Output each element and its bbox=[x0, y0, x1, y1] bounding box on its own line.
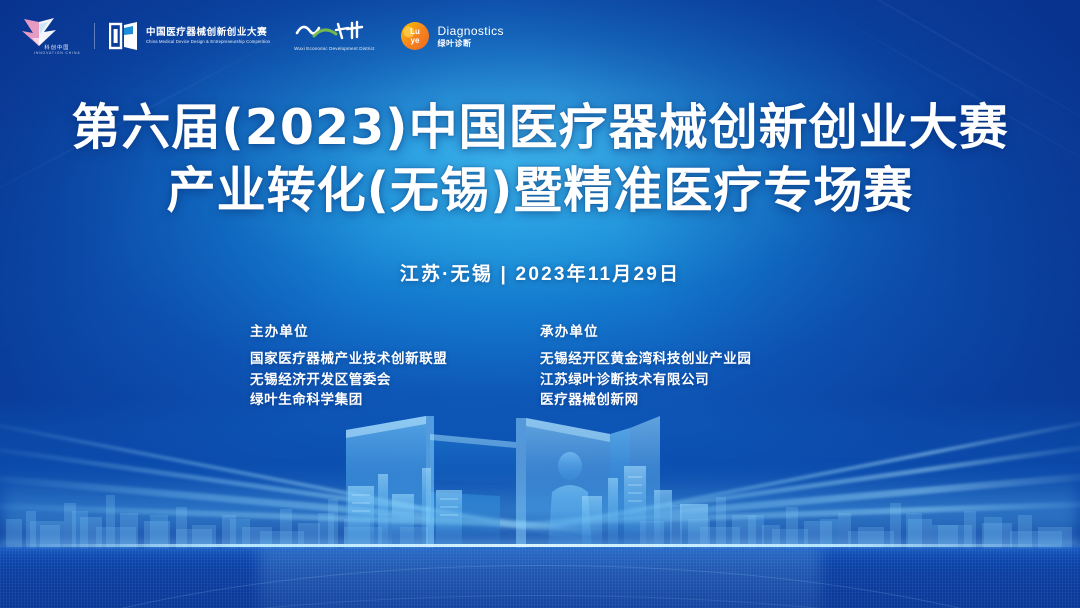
cohost-organizer-item: 江苏绿叶诊断技术有限公司 bbox=[540, 370, 830, 391]
poster-title: 第六届(2023)中国医疗器械创新创业大赛 产业转化(无锡)暨精准医疗专场赛 bbox=[0, 96, 1080, 222]
poster-content: 第六届(2023)中国医疗器械创新创业大赛 产业转化(无锡)暨精准医疗专场赛 江… bbox=[0, 0, 1080, 608]
poster-title-line-2: 产业转化(无锡)暨精准医疗专场赛 bbox=[0, 159, 1080, 222]
cohost-organizers-column: 承办单位 无锡经开区黄金湾科技创业产业园 江苏绿叶诊断技术有限公司 医疗器械创新… bbox=[540, 320, 830, 411]
poster-title-line-1: 第六届(2023)中国医疗器械创新创业大赛 bbox=[0, 96, 1080, 159]
host-organizer-item: 绿叶生命科学集团 bbox=[250, 390, 540, 411]
host-organizer-item: 无锡经济开发区管委会 bbox=[250, 370, 540, 391]
organizers-block: 主办单位 国家医疗器械产业技术创新联盟 无锡经济开发区管委会 绿叶生命科学集团 … bbox=[0, 320, 1080, 411]
host-organizers-heading: 主办单位 bbox=[250, 320, 540, 340]
cohost-organizers-heading: 承办单位 bbox=[540, 320, 830, 340]
host-organizer-item: 国家医疗器械产业技术创新联盟 bbox=[250, 349, 540, 370]
cohost-organizer-item: 无锡经开区黄金湾科技创业产业园 bbox=[540, 349, 830, 370]
poster-subtitle: 江苏·无锡 | 2023年11月29日 bbox=[0, 259, 1080, 286]
host-organizers-column: 主办单位 国家医疗器械产业技术创新联盟 无锡经济开发区管委会 绿叶生命科学集团 bbox=[250, 320, 540, 411]
cohost-organizer-item: 医疗器械创新网 bbox=[540, 390, 830, 411]
event-poster: 科创中国 INNOVATION CHINA 中国医疗器械创新创业大赛 China… bbox=[0, 0, 1080, 608]
